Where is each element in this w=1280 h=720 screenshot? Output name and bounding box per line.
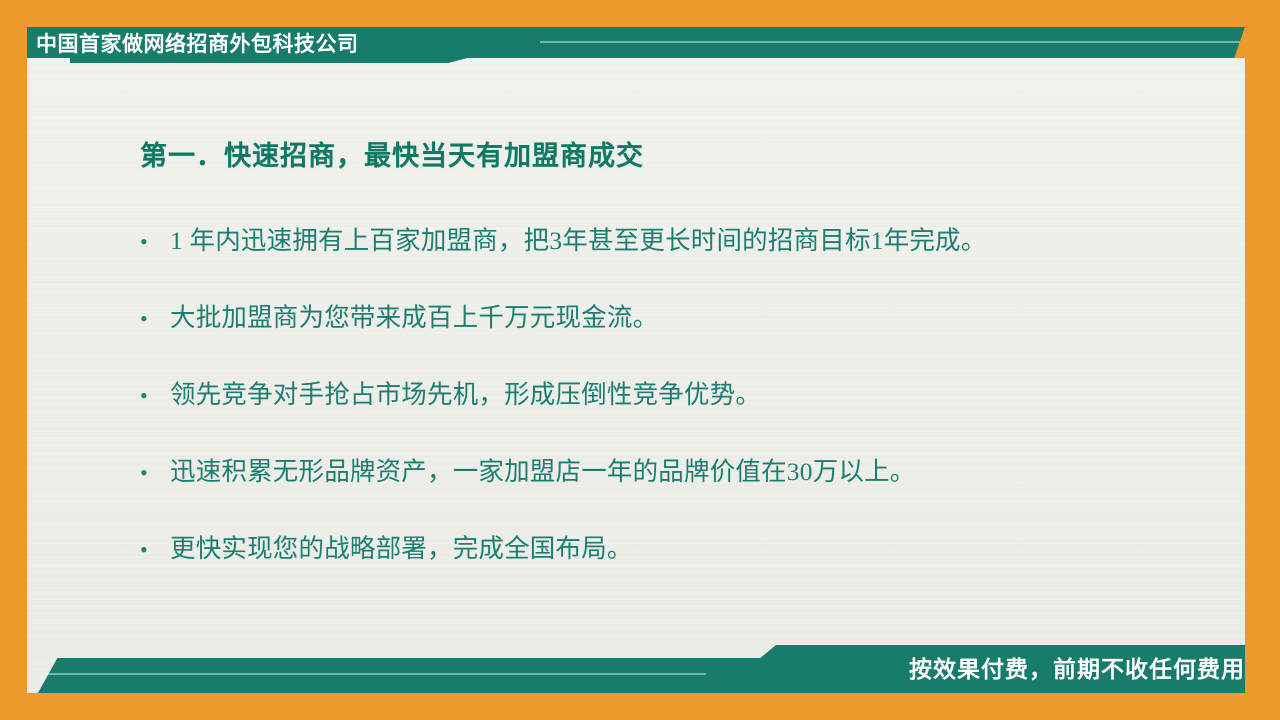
bullet-point-icon: •	[140, 462, 170, 484]
list-item-text: 1 年内迅速拥有上百家加盟商，把3年甚至更长时间的招商目标1年完成。	[170, 228, 986, 254]
list-item: • 迅速积累无形品牌资产，一家加盟店一年的品牌价值在30万以上。	[140, 459, 1230, 536]
list-item: • 更快实现您的战略部署，完成全国布局。	[140, 536, 1230, 613]
bullet-list: • 1 年内迅速拥有上百家加盟商，把3年甚至更长时间的招商目标1年完成。 • 大…	[140, 228, 1230, 613]
bullet-point-icon: •	[140, 385, 170, 407]
list-item: • 大批加盟商为您带来成百上千万元现金流。	[140, 305, 1230, 382]
bullet-point-icon: •	[140, 308, 170, 330]
list-item-text: 迅速积累无形品牌资产，一家加盟店一年的品牌价值在30万以上。	[170, 459, 916, 485]
section-heading: 第一．快速招商，最快当天有加盟商成交	[140, 134, 644, 173]
list-item: • 领先竞争对手抢占市场先机，形成压倒性竞争优势。	[140, 382, 1230, 459]
header-divider-line	[540, 41, 1240, 43]
list-item-text: 大批加盟商为您带来成百上千万元现金流。	[170, 305, 658, 331]
list-item: • 1 年内迅速拥有上百家加盟商，把3年甚至更长时间的招商目标1年完成。	[140, 228, 1230, 305]
slide: 中国首家做网络招商外包科技公司 第一．快速招商，最快当天有加盟商成交 • 1 年…	[0, 0, 1280, 720]
slide-content: 第一．快速招商，最快当天有加盟商成交 • 1 年内迅速拥有上百家加盟商，把3年甚…	[27, 90, 1245, 630]
list-item-text: 更快实现您的战略部署，完成全国布局。	[170, 536, 633, 562]
bullet-point-icon: •	[140, 539, 170, 561]
list-item-text: 领先竞争对手抢占市场先机，形成压倒性竞争优势。	[170, 382, 761, 408]
footer-tagline: 按效果付费，前期不收任何费用	[909, 653, 1245, 685]
bullet-point-icon: •	[140, 231, 170, 253]
continuation-ellipsis: ……	[167, 703, 221, 720]
header-title: 中国首家做网络招商外包科技公司	[36, 31, 359, 59]
footer-divider-line	[46, 673, 706, 675]
